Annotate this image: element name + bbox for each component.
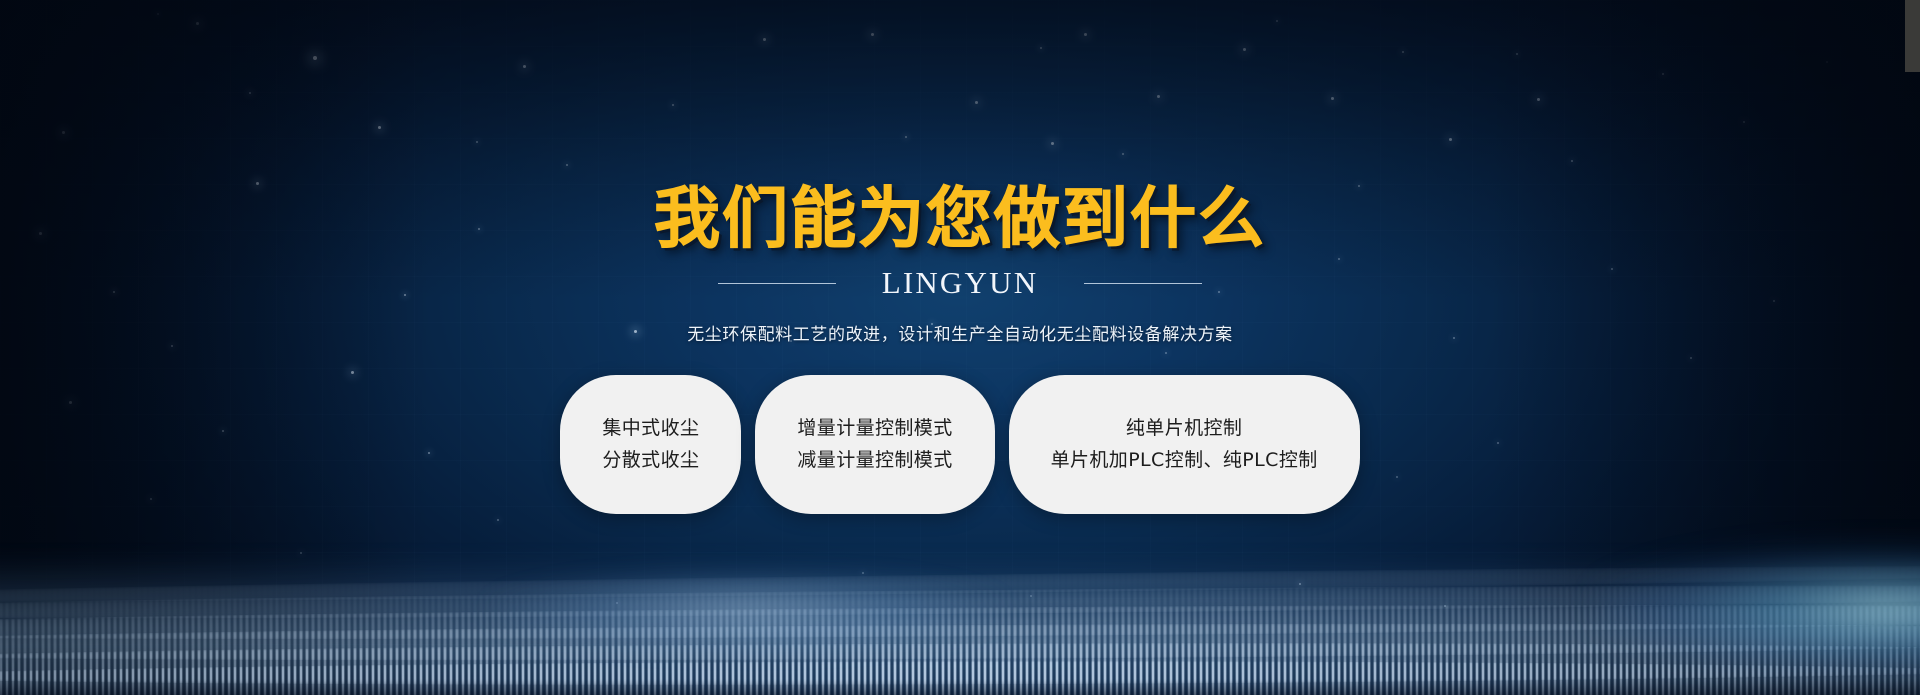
brand-divider-row: LINGYUN (718, 265, 1203, 301)
feature-card-list: 集中式收尘 分散式收尘 增量计量控制模式 减量计量控制模式 纯单片机控制 单片机… (560, 375, 1359, 514)
divider-line-left (718, 283, 836, 284)
divider-line-right (1084, 283, 1202, 284)
hero-content: 我们能为您做到什么 LINGYUN 无尘环保配料工艺的改进，设计和生产全自动化无… (0, 0, 1920, 695)
hero-banner: 我们能为您做到什么 LINGYUN 无尘环保配料工艺的改进，设计和生产全自动化无… (0, 0, 1920, 695)
feature-card-line: 增量计量控制模式 (797, 417, 952, 441)
feature-card[interactable]: 纯单片机控制 单片机加PLC控制、纯PLC控制 (1009, 375, 1360, 514)
page-scrollbar[interactable] (1905, 0, 1920, 695)
feature-card-line: 减量计量控制模式 (797, 449, 952, 473)
scrollbar-thumb[interactable] (1905, 0, 1920, 72)
page-subtitle: 无尘环保配料工艺的改进，设计和生产全自动化无尘配料设备解决方案 (687, 320, 1233, 345)
feature-card-line: 分散式收尘 (602, 449, 699, 473)
feature-card[interactable]: 增量计量控制模式 减量计量控制模式 (755, 375, 994, 514)
page-title: 我们能为您做到什么 (654, 184, 1266, 253)
feature-card-line: 单片机加PLC控制、纯PLC控制 (1051, 449, 1318, 473)
brand-name: LINGYUN (882, 265, 1039, 301)
feature-card-line: 集中式收尘 (602, 417, 699, 441)
feature-card-line: 纯单片机控制 (1126, 417, 1242, 441)
feature-card[interactable]: 集中式收尘 分散式收尘 (560, 375, 741, 514)
